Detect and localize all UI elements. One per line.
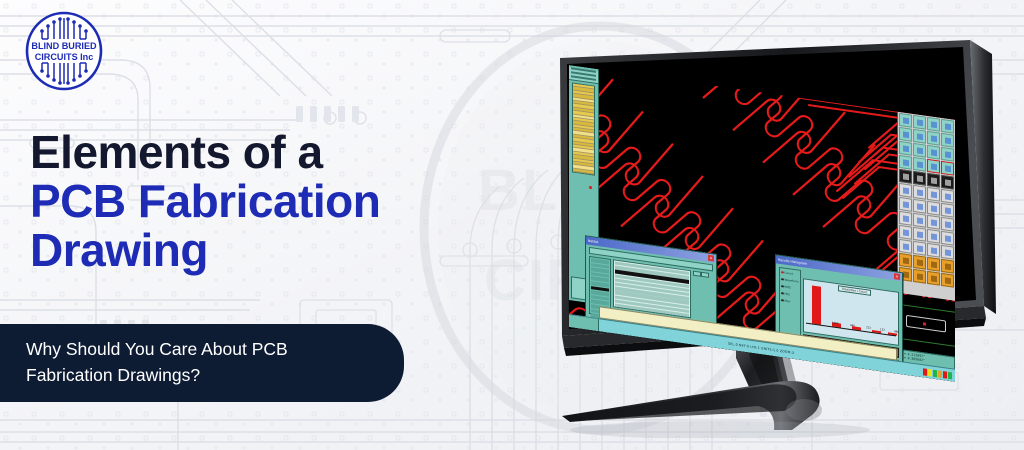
tool-palette[interactable] (897, 112, 955, 301)
page-title: Elements of a PCB Fabrication Drawing (30, 128, 590, 274)
tool-button[interactable] (913, 143, 926, 158)
company-logo[interactable]: BLIND BURIED CIRCUITS Inc (18, 11, 110, 91)
tool-button[interactable] (899, 239, 912, 254)
tool-button[interactable] (913, 115, 926, 130)
legend-item: RMS (781, 284, 799, 291)
layer-list[interactable] (572, 82, 595, 175)
tool-button[interactable] (913, 199, 926, 214)
tool-button[interactable] (899, 141, 912, 156)
tool-button[interactable] (927, 145, 940, 160)
tool-button[interactable] (927, 187, 940, 202)
promotional-banner: BLIND BU CIRCUITS (0, 0, 1024, 450)
tool-button[interactable] (913, 171, 926, 186)
tool-button[interactable] (941, 175, 954, 190)
tool-button[interactable] (941, 231, 954, 246)
tool-button[interactable] (899, 127, 912, 142)
histogram-tab-label[interactable]: Rise/Jitter / Count (838, 285, 871, 296)
tool-button[interactable] (941, 203, 954, 218)
tool-button[interactable] (941, 147, 954, 162)
tool-button[interactable] (927, 271, 940, 286)
tool-button[interactable] (913, 269, 926, 284)
headline-line-3: Drawing (30, 226, 590, 275)
tool-button[interactable] (927, 131, 940, 146)
tool-button[interactable] (899, 225, 912, 240)
tool-button[interactable] (941, 119, 954, 134)
tool-button[interactable] (927, 229, 940, 244)
tool-button[interactable] (913, 255, 926, 270)
tool-button[interactable] (913, 241, 926, 256)
tool-button[interactable] (927, 201, 940, 216)
legend-item: Max (781, 298, 799, 305)
tool-button[interactable] (899, 197, 912, 212)
logo-text-line1: BLIND BURIED (31, 41, 97, 51)
close-icon[interactable]: × (708, 255, 714, 262)
monitor-screen: X = 4.513097" Y = 0.889602" Done Netlist… (569, 65, 955, 382)
histogram-legend[interactable]: Count Waveform RMS Hits Max (779, 267, 801, 342)
tool-button[interactable] (899, 169, 912, 184)
tool-button[interactable] (899, 211, 912, 226)
tool-button-selected[interactable] (927, 159, 940, 174)
close-icon[interactable]: × (894, 273, 900, 280)
logo-text-line2: CIRCUITS Inc (35, 52, 94, 62)
tool-button[interactable] (913, 213, 926, 228)
layer-panel-header (569, 67, 598, 84)
tool-button-selected[interactable] (941, 161, 954, 176)
tool-button[interactable] (913, 227, 926, 242)
tool-button[interactable] (941, 133, 954, 148)
status-indicators[interactable] (923, 368, 955, 380)
tool-button[interactable] (927, 117, 940, 132)
tool-button[interactable] (927, 257, 940, 272)
legend-item: Hits (781, 291, 799, 298)
tool-button[interactable] (927, 215, 940, 230)
cursor-marker (589, 186, 592, 189)
headline-line-1: Elements of a (30, 128, 590, 177)
legend-item: Count (781, 270, 799, 277)
tool-button[interactable] (913, 129, 926, 144)
subtitle-banner: Why Should You Care About PCB Fabricatio… (0, 324, 404, 402)
tool-button[interactable] (941, 217, 954, 232)
tool-button[interactable] (899, 253, 912, 268)
subtitle-line-2: Fabrication Drawings? (26, 363, 364, 389)
subtitle-line-1: Why Should You Care About PCB (26, 337, 364, 363)
tool-button[interactable] (927, 243, 940, 258)
tool-button[interactable] (899, 155, 912, 170)
tool-button[interactable] (927, 173, 940, 188)
headline-line-2: PCB Fabrication (30, 177, 590, 226)
tool-button[interactable] (899, 113, 912, 128)
tool-button[interactable] (941, 245, 954, 260)
legend-item: Waveform (781, 277, 799, 284)
preview-outline (906, 315, 946, 333)
tool-button[interactable] (941, 259, 954, 274)
netlist-mode-buttons[interactable] (693, 271, 713, 283)
tool-button[interactable] (941, 273, 954, 288)
histogram-x-ticks: 1005 440 223 132 486 (806, 318, 896, 335)
tool-button[interactable] (913, 157, 926, 172)
tool-button[interactable] (941, 189, 954, 204)
desktop-monitor: X = 4.513097" Y = 0.889602" Done Netlist… (540, 38, 1010, 438)
tool-button[interactable] (899, 183, 912, 198)
tool-button[interactable] (913, 185, 926, 200)
shape-preview-pane (897, 294, 955, 357)
